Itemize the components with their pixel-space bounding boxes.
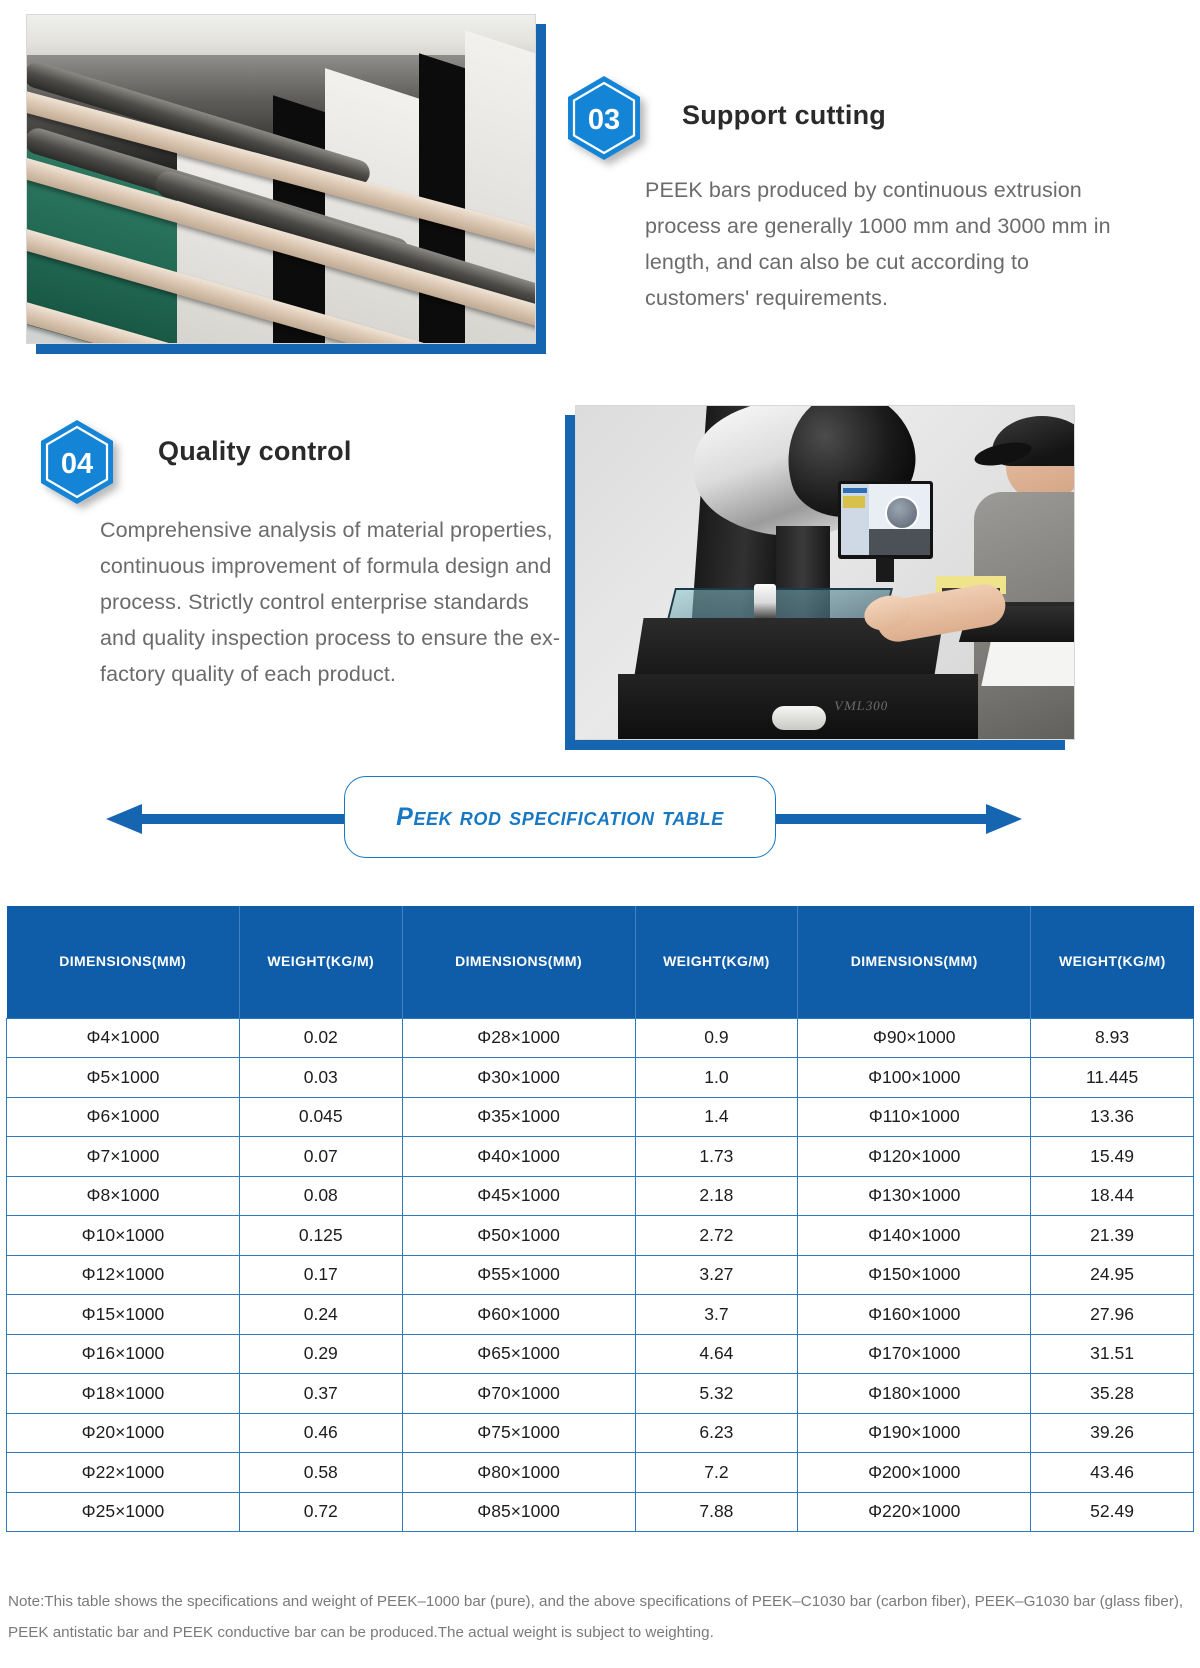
table-cell: Φ80×1000 — [402, 1453, 635, 1493]
table-cell: 1.0 — [635, 1058, 798, 1098]
page-root: 03 Support cutting PEEK bars produced by… — [0, 0, 1200, 1668]
table-header-row: DIMENSIONS(MM) WEIGHT(KG/M) DIMENSIONS(M… — [7, 906, 1194, 1018]
section-body-03: PEEK bars produced by continuous extrusi… — [645, 172, 1135, 316]
column-header: DIMENSIONS(MM) — [402, 906, 635, 1018]
table-cell: Φ70×1000 — [402, 1374, 635, 1414]
arrow-right-shaft — [760, 814, 990, 824]
table-cell: Φ35×1000 — [402, 1097, 635, 1137]
section-support-cutting: 03 Support cutting PEEK bars produced by… — [0, 0, 1200, 380]
column-header: DIMENSIONS(MM) — [7, 906, 240, 1018]
spec-table-title-pill: Peek rod specification table — [344, 776, 776, 858]
table-row: Φ15×10000.24Φ60×10003.7Φ160×100027.96 — [7, 1295, 1194, 1335]
table-row: Φ5×10000.03Φ30×10001.0Φ100×100011.445 — [7, 1058, 1194, 1098]
spec-table-title: Peek rod specification table — [396, 803, 724, 832]
table-cell: 0.9 — [635, 1018, 798, 1058]
column-header: WEIGHT(KG/M) — [1031, 906, 1194, 1018]
arrow-left-icon — [106, 804, 142, 834]
table-cell: 7.88 — [635, 1492, 798, 1532]
table-cell: 0.045 — [239, 1097, 402, 1137]
column-header: DIMENSIONS(MM) — [798, 906, 1031, 1018]
table-cell: 3.7 — [635, 1295, 798, 1335]
table-row: Φ4×10000.02Φ28×10000.9Φ90×10008.93 — [7, 1018, 1194, 1058]
table-row: Φ7×10000.07Φ40×10001.73Φ120×100015.49 — [7, 1137, 1194, 1177]
table-cell: Φ5×1000 — [7, 1058, 240, 1098]
table-cell: Φ6×1000 — [7, 1097, 240, 1137]
table-row: Φ16×10000.29Φ65×10004.64Φ170×100031.51 — [7, 1334, 1194, 1374]
step-number-badge-04: 04 — [38, 418, 116, 506]
table-cell: Φ100×1000 — [798, 1058, 1031, 1098]
table-cell: Φ16×1000 — [7, 1334, 240, 1374]
machine-model-label: VML300 — [833, 698, 890, 714]
table-cell: Φ85×1000 — [402, 1492, 635, 1532]
table-cell: Φ65×1000 — [402, 1334, 635, 1374]
table-cell: Φ110×1000 — [798, 1097, 1031, 1137]
table-cell: Φ200×1000 — [798, 1453, 1031, 1493]
table-cell: Φ45×1000 — [402, 1176, 635, 1216]
table-cell: 21.39 — [1031, 1216, 1194, 1256]
table-cell: Φ60×1000 — [402, 1295, 635, 1335]
column-header: WEIGHT(KG/M) — [239, 906, 402, 1018]
table-row: Φ8×10000.08Φ45×10002.18Φ130×100018.44 — [7, 1176, 1194, 1216]
table-cell: 0.07 — [239, 1137, 402, 1177]
arrow-left-shaft — [140, 814, 370, 824]
table-cell: Φ7×1000 — [7, 1137, 240, 1177]
table-row: Φ18×10000.37Φ70×10005.32Φ180×100035.28 — [7, 1374, 1194, 1414]
table-cell: 0.24 — [239, 1295, 402, 1335]
section-body-04: Comprehensive analysis of material prope… — [100, 512, 568, 692]
table-cell: 52.49 — [1031, 1492, 1194, 1532]
column-header: WEIGHT(KG/M) — [635, 906, 798, 1018]
table-cell: 0.58 — [239, 1453, 402, 1493]
table-cell: 31.51 — [1031, 1334, 1194, 1374]
table-cell: 24.95 — [1031, 1255, 1194, 1295]
table-cell: 35.28 — [1031, 1374, 1194, 1414]
table-row: Φ22×10000.58Φ80×10007.2Φ200×100043.46 — [7, 1453, 1194, 1493]
table-cell: Φ30×1000 — [402, 1058, 635, 1098]
table-cell: Φ120×1000 — [798, 1137, 1031, 1177]
table-cell: Φ150×1000 — [798, 1255, 1031, 1295]
table-cell: 43.46 — [1031, 1453, 1194, 1493]
table-cell: Φ18×1000 — [7, 1374, 240, 1414]
table-cell: 0.72 — [239, 1492, 402, 1532]
table-cell: Φ90×1000 — [798, 1018, 1031, 1058]
table-cell: 0.03 — [239, 1058, 402, 1098]
table-cell: 18.44 — [1031, 1176, 1194, 1216]
table-cell: Φ190×1000 — [798, 1413, 1031, 1453]
table-cell: Φ28×1000 — [402, 1018, 635, 1058]
table-cell: Φ140×1000 — [798, 1216, 1031, 1256]
table-cell: 1.4 — [635, 1097, 798, 1137]
table-body: Φ4×10000.02Φ28×10000.9Φ90×10008.93Φ5×100… — [7, 1018, 1194, 1532]
peek-rods-photo — [26, 14, 536, 344]
step-number-badge-03: 03 — [565, 74, 643, 162]
table-cell: Φ8×1000 — [7, 1176, 240, 1216]
table-cell: 4.64 — [635, 1334, 798, 1374]
table-cell: Φ12×1000 — [7, 1255, 240, 1295]
table-cell: Φ160×1000 — [798, 1295, 1031, 1335]
table-cell: 6.23 — [635, 1413, 798, 1453]
table-note: Note:This table shows the specifications… — [8, 1586, 1192, 1648]
table-cell: 13.36 — [1031, 1097, 1194, 1137]
table-row: Φ10×10000.125Φ50×10002.72Φ140×100021.39 — [7, 1216, 1194, 1256]
step-number-text-03: 03 — [588, 104, 620, 136]
section-title-04: Quality control — [158, 436, 352, 467]
table-cell: 0.29 — [239, 1334, 402, 1374]
table-cell: 0.46 — [239, 1413, 402, 1453]
step-number-text-04: 04 — [61, 448, 93, 480]
table-cell: Φ50×1000 — [402, 1216, 635, 1256]
peek-rods-photo-content — [27, 15, 535, 343]
quality-inspection-photo: VML300 — [575, 405, 1075, 740]
table-cell: Φ15×1000 — [7, 1295, 240, 1335]
table-row: Φ12×10000.17Φ55×10003.27Φ150×100024.95 — [7, 1255, 1194, 1295]
table-header: DIMENSIONS(MM) WEIGHT(KG/M) DIMENSIONS(M… — [7, 906, 1194, 1018]
table-cell: Φ220×1000 — [798, 1492, 1031, 1532]
table-cell: 0.37 — [239, 1374, 402, 1414]
table-cell: 2.18 — [635, 1176, 798, 1216]
table-cell: 39.26 — [1031, 1413, 1194, 1453]
table-cell: Φ55×1000 — [402, 1255, 635, 1295]
quality-inspection-photo-content: VML300 — [576, 406, 1074, 739]
table-cell: 0.125 — [239, 1216, 402, 1256]
table-cell: Φ22×1000 — [7, 1453, 240, 1493]
table-cell: Φ20×1000 — [7, 1413, 240, 1453]
table-row: Φ20×10000.46Φ75×10006.23Φ190×100039.26 — [7, 1413, 1194, 1453]
table-cell: 0.02 — [239, 1018, 402, 1058]
table-cell: 7.2 — [635, 1453, 798, 1493]
table-cell: 11.445 — [1031, 1058, 1194, 1098]
section-title-03: Support cutting — [682, 100, 886, 131]
table-row: Φ6×10000.045Φ35×10001.4Φ110×100013.36 — [7, 1097, 1194, 1137]
table-cell: 27.96 — [1031, 1295, 1194, 1335]
table-cell: 1.73 — [635, 1137, 798, 1177]
peek-rod-specification-table: DIMENSIONS(MM) WEIGHT(KG/M) DIMENSIONS(M… — [6, 906, 1194, 1532]
table-cell: 5.32 — [635, 1374, 798, 1414]
table-cell: Φ170×1000 — [798, 1334, 1031, 1374]
table-cell: 2.72 — [635, 1216, 798, 1256]
arrow-right-icon — [986, 804, 1022, 834]
table-cell: Φ4×1000 — [7, 1018, 240, 1058]
table-cell: Φ40×1000 — [402, 1137, 635, 1177]
table-cell: Φ130×1000 — [798, 1176, 1031, 1216]
table-cell: 8.93 — [1031, 1018, 1194, 1058]
table-cell: 0.17 — [239, 1255, 402, 1295]
table-cell: 0.08 — [239, 1176, 402, 1216]
table-cell: 15.49 — [1031, 1137, 1194, 1177]
table-cell: Φ180×1000 — [798, 1374, 1031, 1414]
table-cell: 3.27 — [635, 1255, 798, 1295]
table-cell: Φ25×1000 — [7, 1492, 240, 1532]
table-row: Φ25×10000.72Φ85×10007.88Φ220×100052.49 — [7, 1492, 1194, 1532]
table-cell: Φ75×1000 — [402, 1413, 635, 1453]
table-cell: Φ10×1000 — [7, 1216, 240, 1256]
